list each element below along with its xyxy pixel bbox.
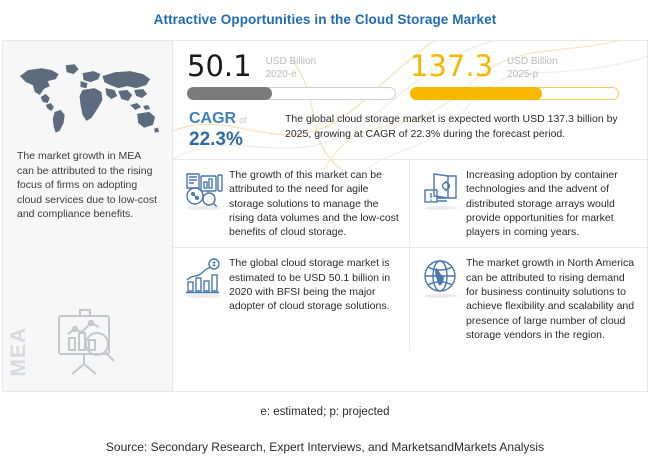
insight-card-2: Increasing adoption by container technol… [410,160,647,248]
stat-2025-unit-line2: 2025-p [507,68,558,81]
stat-2020-unit: USD Billion 2020-e [252,49,317,81]
stats-row: 50.1 USD Billion 2020-e 137.3 USD Billio… [173,41,647,100]
icon-shadow [424,294,458,298]
icon-shadow [187,294,221,298]
cagr-of-text: of [236,115,247,125]
insight-card-4: The market growth in North America can b… [410,248,647,350]
presentation-analysis-icon [47,306,125,383]
stat-2020-unit-line1: USD Billion [266,55,317,68]
insight-card-2-text: Increasing adoption by container technol… [466,168,637,239]
stat-2020-progress-bar [187,87,396,100]
cagr-row: CAGRof 22.3% The global cloud storage ma… [173,100,647,150]
data-analytics-search-icon [185,168,229,239]
icon-shadow [187,206,221,210]
content-panel: 50.1 USD Billion 2020-e 137.3 USD Billio… [173,41,647,391]
stat-2025: 137.3 USD Billion 2025-p [410,49,633,100]
insight-card-1-text: The growth of this market can be attribu… [229,168,399,239]
insight-card-3: The global cloud storage market is estim… [173,248,410,350]
container-stack-icon [422,168,466,239]
insight-card-3-text: The global cloud storage market is estim… [229,256,399,342]
stat-2025-unit: USD Billion 2025-p [493,49,558,81]
cagr-label-text: CAGR [189,110,236,127]
stat-2020: 50.1 USD Billion 2020-e [187,49,410,100]
insight-cards: The growth of this market can be attribu… [173,160,647,350]
world-map-icon [13,49,162,147]
mea-region-label: MEA [7,327,31,377]
insight-card-1: The growth of this market can be attribu… [173,160,410,248]
stat-2025-progress-fill [410,87,542,100]
globe-icon [422,256,466,342]
insight-card-4-text: The market growth in North America can b… [466,256,637,342]
cagr-description: The global cloud storage market is expec… [285,110,633,141]
icon-shadow [424,206,458,210]
page-title: Attractive Opportunities in the Cloud St… [154,12,497,27]
stat-2025-unit-line1: USD Billion [507,55,558,68]
cagr-value: 22.3% [189,129,285,150]
stat-2020-value: 50.1 [187,49,252,83]
stat-2020-unit-line2: 2020-e [266,68,317,81]
footer-note: e: estimated; p: projected [0,396,650,418]
bar-chart-growth-icon [185,256,229,342]
sidebar-description: The market growth in MEA can be attribut… [13,147,162,222]
infographic-frame: The market growth in MEA can be attribut… [2,40,648,392]
cagr-label: CAGRof [189,110,285,129]
cagr-block: CAGRof 22.3% [189,110,285,150]
stat-2025-progress-bar [410,87,619,100]
footer-source: Source: Secondary Research, Expert Inter… [0,418,650,454]
mea-sidebar-panel: The market growth in MEA can be attribut… [3,41,173,391]
stat-2020-progress-fill [187,87,272,100]
stat-2025-value: 137.3 [410,49,493,83]
page-header: Attractive Opportunities in the Cloud St… [0,0,650,38]
footer: e: estimated; p: projected Source: Secon… [0,396,650,454]
